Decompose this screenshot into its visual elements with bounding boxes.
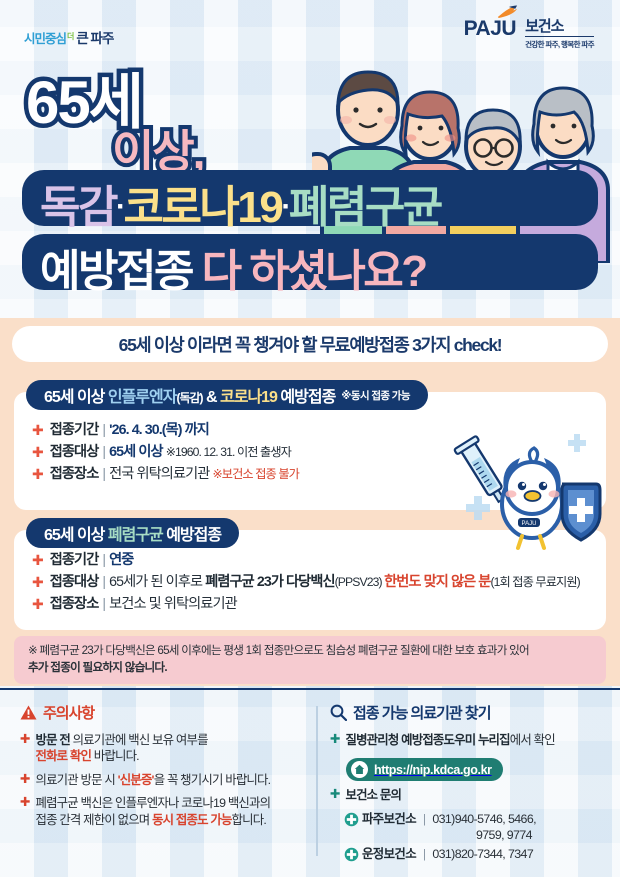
- city-slogan-part-c: 큰 파주: [76, 27, 113, 47]
- phone-name: 운정보건소: [362, 847, 416, 861]
- caution-1-seg1: 방문 전: [35, 733, 69, 747]
- row-value-b: 폐렴구균 23가 다당백신: [205, 574, 334, 590]
- pill2-pneumo: 폐렴구균: [108, 527, 163, 544]
- hero-disease-flu: 독감: [40, 183, 116, 232]
- row-value: 보건소 및 위탁의료기관: [109, 596, 237, 612]
- hero-question: 다 하셨나요?: [202, 247, 426, 296]
- row-value: 65세 이상: [109, 444, 162, 460]
- table-row: ✚ 접종대상|65세 이상 ※1960. 12. 31. 이전 출생자: [32, 444, 299, 461]
- table-row: ✚ 접종기간|'26. 4. 30.(목) 까지: [32, 422, 299, 439]
- caution-1-seg2: 의료기관에 백신 보유 여부를: [70, 733, 208, 747]
- home-icon: [351, 761, 368, 778]
- city-slogan-logo: 시민중심 더 큰 파주: [24, 27, 113, 47]
- find-item-portal: ✚ 질병관리청 예방접종도우미 누리집에서 확인: [330, 732, 610, 748]
- org-name-block: 보건소 건강한 파주, 행복한 파주: [525, 18, 594, 50]
- row-label: 접종기간: [50, 422, 99, 438]
- paju-bird-mascot-illustration: PAJU: [448, 432, 608, 552]
- pneumococcal-pill-header: 65세 이상 폐렴구균 예방접종: [26, 518, 239, 548]
- phone-name: 파주보건소: [362, 812, 416, 826]
- phone-number-cont: 9759, 9774: [362, 827, 536, 843]
- row-separator: |: [102, 596, 105, 612]
- hero-dot-2: ·: [281, 190, 289, 223]
- row-value: '26. 4. 30.(목) 까지: [109, 422, 209, 438]
- warning-triangle-icon: [20, 705, 37, 720]
- plus-icon: ✚: [32, 422, 44, 438]
- phone-number: 031)940-5746, 5466,: [432, 812, 536, 826]
- row-separator: |: [102, 466, 105, 482]
- caution-3-seg4: 합니다.: [232, 813, 266, 827]
- subtitle-post: 3가지 check!: [409, 335, 502, 355]
- caution-item: ✚ 방문 전 의료기관에 백신 보유 여부를전화로 확인 바랍니다.: [20, 732, 310, 765]
- caution-1-seg4: 바랍니다.: [91, 749, 139, 763]
- row-label: 접종기간: [50, 552, 99, 568]
- find-heading-text: 접종 가능 의료기관 찾기: [353, 702, 491, 723]
- plus-icon: ✚: [20, 795, 30, 811]
- row-separator: |: [102, 422, 105, 438]
- row-label: 접종장소: [50, 466, 99, 482]
- table-row: ✚ 접종기간|연중: [32, 552, 580, 569]
- portal-name: 질병관리청 예방접종도우미 누리집: [345, 733, 509, 747]
- nip-url-text: https://nip.kdca.go.kr: [374, 763, 492, 777]
- row-separator: |: [102, 552, 105, 568]
- find-heading: 접종 가능 의료기관 찾기: [330, 702, 610, 723]
- poster-header: 시민중심 더 큰 파주 PAJU 보건소 건강한 파주, 행복한 파주: [0, 0, 620, 58]
- portal-rest: 에서 확인: [510, 733, 555, 747]
- row-separator: |: [102, 444, 105, 460]
- paju-wordmark: PAJU: [464, 18, 516, 39]
- row-note: ※1960. 12. 31. 이전 출생자: [166, 445, 291, 459]
- plus-icon: ✚: [32, 574, 44, 590]
- hero-band-1-text: 독감·코로나19·폐렴구균: [40, 171, 441, 235]
- nip-kdca-url-link[interactable]: https://nip.kdca.go.kr: [346, 758, 503, 781]
- phone-separator: |: [423, 847, 426, 861]
- medical-cross-badge-icon: [344, 812, 359, 827]
- pill1-pre: 65세 이상: [44, 389, 108, 406]
- subtitle-em-1: 꼭: [235, 335, 250, 355]
- row-separator: |: [102, 574, 105, 590]
- org-tagline: 건강한 파주, 행복한 파주: [525, 39, 594, 50]
- hero-title-area: 65세 이상, 독감·코로나19·폐렴구균 예방접종 다 하셨나요?: [0, 52, 620, 320]
- pill1-flu: 인플루엔자: [108, 389, 177, 406]
- phone-row: 운정보건소 | 031)820-7344, 7347: [344, 846, 610, 862]
- bird-swoosh-icon: [496, 5, 518, 19]
- poster-root: 시민중심 더 큰 파주 PAJU 보건소 건강한 파주, 행복한 파주: [0, 0, 620, 877]
- row-value-c: (PPSV23): [335, 575, 384, 589]
- caution-3-seg1: 폐렴구균 백신은 인플루엔자나 코로나19 백신과의: [35, 796, 270, 810]
- plus-icon: ✚: [20, 732, 30, 748]
- table-row: ✚ 접종대상|65세가 된 이후로 폐렴구균 23가 다당백신(PPSV23) …: [32, 574, 580, 591]
- caution-heading-text: 주의사항: [43, 702, 94, 723]
- subtitle-text: 65세 이상 이라면 꼭 챙겨야 할 무료예방접종 3가지 check!: [119, 332, 502, 357]
- hero-vaccination-word: 예방접종: [40, 247, 192, 296]
- pill1-post: 예방접종: [277, 389, 335, 406]
- row-value: 전국 위탁의료기관: [109, 466, 209, 482]
- pill1-note: ※동시 접종 가능: [341, 388, 410, 403]
- note-line-1: ※ 폐렴구균 23가 다당백신은 65세 이후에는 평생 1회 접종만으로도 침…: [28, 643, 592, 660]
- pill2-pre: 65세 이상: [44, 527, 108, 544]
- city-slogan-part-a: 시민중심: [24, 28, 66, 47]
- pill2-post: 예방접종: [163, 527, 221, 544]
- plus-icon: ✚: [20, 772, 30, 788]
- subtitle-em-2: 무료예방접종: [320, 335, 409, 355]
- hero-disease-covid: 코로나19: [123, 183, 281, 232]
- pneumococcal-rows: ✚ 접종기간|연중 ✚ 접종대상|65세가 된 이후로 폐렴구균 23가 다당백…: [32, 552, 580, 618]
- table-row: ✚ 접종장소|보건소 및 위탁의료기관: [32, 596, 580, 613]
- caution-1-seg3: 전화로 확인: [35, 749, 91, 763]
- city-slogan-part-b: 더: [67, 31, 74, 42]
- pill1-covid: 코로나19: [220, 389, 277, 406]
- phone-number: 031)820-7344, 7347: [432, 847, 533, 861]
- subtitle-banner: 65세 이상 이라면 꼭 챙겨야 할 무료예방접종 3가지 check!: [12, 326, 608, 362]
- row-label: 접종장소: [50, 596, 99, 612]
- flu-covid-rows: ✚ 접종기간|'26. 4. 30.(목) 까지 ✚ 접종대상|65세 이상 ※…: [32, 422, 299, 488]
- row-note: ※보건소 접종 불가: [212, 467, 298, 481]
- row-value: 연중: [109, 552, 133, 568]
- paju-health-center-logo: PAJU 보건소 건강한 파주, 행복한 파주: [464, 18, 594, 50]
- caution-heading: 주의사항: [20, 702, 310, 723]
- home-glyph: [354, 764, 365, 775]
- caution-2-seg3: 을 꼭 챙기시기 바랍니다.: [154, 773, 271, 787]
- flu-covid-pill-header: 65세 이상 인플루엔자(독감) & 코로나19 예방접종 ※동시 접종 가능: [26, 380, 428, 410]
- search-icon: [330, 704, 347, 721]
- svg-text:PAJU: PAJU: [522, 521, 537, 527]
- caution-2-seg2: '신분증': [118, 773, 154, 787]
- caution-3-seg3: 동시 접종도 가능: [152, 813, 231, 827]
- medical-cross-badge-icon: [344, 847, 359, 862]
- row-value-d: 한번도 맞지 않은 분: [384, 574, 490, 590]
- caution-item: ✚ 폐렴구균 백신은 인플루엔자나 코로나19 백신과의접종 간격 제한이 없으…: [20, 795, 310, 828]
- find-clinic-column: 접종 가능 의료기관 찾기 ✚ 질병관리청 예방접종도우미 누리집에서 확인 h…: [330, 702, 610, 865]
- pneumococcal-note-box: ※ 폐렴구균 23가 다당백신은 65세 이후에는 평생 1회 접종만으로도 침…: [14, 636, 606, 684]
- subtitle-mid: 챙겨야 할: [250, 335, 320, 355]
- plus-icon: ✚: [330, 787, 340, 803]
- pill1-amp: &: [203, 389, 220, 406]
- org-name: 보건소: [525, 19, 594, 37]
- phone-row: 파주보건소 | 031)940-5746, 5466,9759, 9774: [344, 811, 610, 843]
- bottom-vertical-divider: [316, 706, 318, 856]
- phone-separator: |: [423, 812, 426, 826]
- table-row: ✚ 접종장소|전국 위탁의료기관 ※보건소 접종 불가: [32, 466, 299, 483]
- row-value-a: 65세가 된 이후로: [109, 574, 205, 590]
- row-label: 접종대상: [50, 444, 99, 460]
- plus-icon: ✚: [330, 732, 340, 748]
- row-label: 접종대상: [50, 574, 99, 590]
- row-value-e: (1회 접종 무료지원): [490, 575, 579, 589]
- find-item-contact: ✚ 보건소 문의: [330, 787, 610, 803]
- bottom-divider: [0, 688, 620, 690]
- caution-3-seg2: 접종 간격 제한이 없으며: [35, 813, 152, 827]
- hero-disease-pneumo: 폐렴구균: [289, 183, 441, 232]
- note-line-2: 추가 접종이 필요하지 않습니다.: [28, 660, 592, 677]
- contact-label: 보건소 문의: [345, 787, 401, 803]
- plus-icon: ✚: [32, 444, 44, 460]
- plus-icon: ✚: [32, 466, 44, 482]
- subtitle-pre: 65세 이상 이라면: [119, 335, 235, 355]
- plus-icon: ✚: [32, 596, 44, 612]
- plus-icon: ✚: [32, 552, 44, 568]
- pill1-flu-paren: (독감): [176, 391, 202, 405]
- caution-item: ✚ 의료기관 방문 시 '신분증'을 꼭 챙기시기 바랍니다.: [20, 772, 310, 788]
- caution-2-seg1: 의료기관 방문 시: [35, 773, 117, 787]
- paju-wordmark-block: PAJU: [464, 18, 516, 39]
- caution-column: 주의사항 ✚ 방문 전 의료기관에 백신 보유 여부를전화로 확인 바랍니다. …: [20, 702, 310, 835]
- hero-band-2-text: 예방접종 다 하셨나요?: [40, 235, 426, 299]
